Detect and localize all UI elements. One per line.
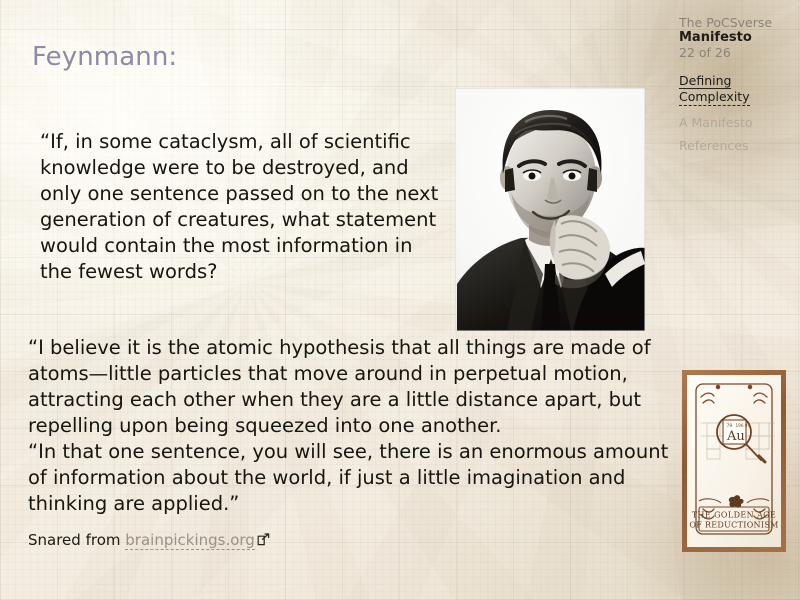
gold-caption-line2: OF REDUCTIONISM — [689, 521, 778, 530]
external-link-icon[interactable] — [257, 532, 270, 545]
source-credit: Snared from brainpickings.org — [28, 531, 270, 549]
brainpickings-link[interactable]: brainpickings.org — [125, 531, 255, 550]
sidebar-item-label-line1: Defining — [679, 73, 731, 89]
sidebar-item-label-line2: Complexity — [679, 89, 750, 105]
sidebar-navigation: The PoCSverse Manifesto 22 of 26 Definin… — [679, 16, 791, 163]
slide-canvas: The PoCSverse Manifesto 22 of 26 Definin… — [0, 0, 800, 600]
feynman-quote-paragraph-3: “In that one sentence, you will see, the… — [28, 439, 676, 517]
nav-slide-count: 22 of 26 — [679, 46, 791, 60]
sidebar-item-defining-complexity[interactable]: Defining Complexity — [679, 73, 791, 106]
page-title: Feynmann: — [32, 42, 177, 72]
sidebar-item-a-manifesto[interactable]: A Manifesto — [679, 116, 791, 130]
nav-section-list: Defining Complexity A Manifesto Referenc… — [679, 73, 791, 153]
feynman-quote-paragraph-2: “I believe it is the atomic hypothesis t… — [28, 335, 676, 439]
feynman-portrait-photo — [455, 88, 645, 331]
golden-age-card: 79 196.97 Au THE GOLDEN AG — [682, 370, 786, 552]
sidebar-item-references[interactable]: References — [679, 139, 791, 153]
gold-caption-line1: THE GOLDEN AGE — [692, 511, 776, 520]
golden-age-card-inner: 79 196.97 Au THE GOLDEN AG — [687, 375, 781, 547]
sidebar-item-label: A Manifesto — [679, 115, 753, 130]
feynman-quote-block-2: “I believe it is the atomic hypothesis t… — [28, 335, 676, 517]
nav-deck-title: Manifesto — [679, 31, 791, 46]
feynman-quote-paragraph-1: “If, in some cataclysm, all of scientifi… — [40, 129, 440, 285]
gold-element-symbol: Au — [726, 429, 745, 444]
nav-deck-name: The PoCSverse — [679, 16, 791, 31]
sidebar-item-label: References — [679, 138, 748, 153]
credit-label: Snared from — [28, 531, 120, 549]
